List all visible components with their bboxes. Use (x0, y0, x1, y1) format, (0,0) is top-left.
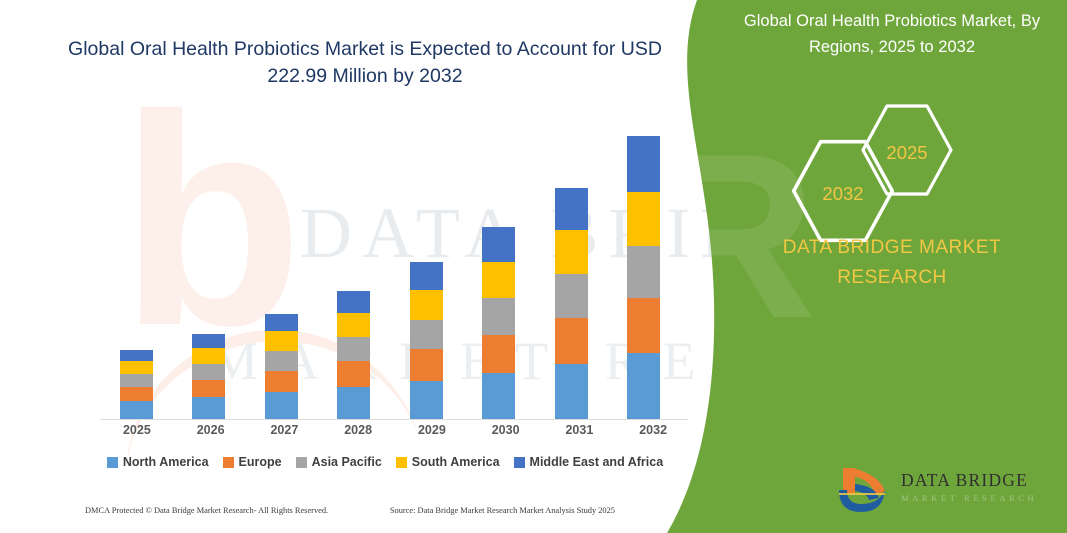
x-axis-labels: 20252026202720282029203020312032 (100, 423, 690, 437)
stacked-bar (627, 136, 660, 419)
bar-segment (265, 314, 298, 332)
bar-segment (410, 381, 443, 419)
stacked-bar (265, 314, 298, 419)
hexagon-group: 2025 2032 (777, 100, 987, 220)
bar-segment (337, 361, 370, 387)
bar-segment (192, 334, 225, 348)
legend-item[interactable]: Asia Pacific (296, 455, 382, 469)
bar-segment (482, 373, 515, 419)
bar-segment (482, 262, 515, 299)
logo-title: DATA BRIDGE (901, 470, 1037, 491)
legend-swatch (296, 457, 307, 468)
stacked-bar-chart (80, 120, 690, 420)
bar-segment (410, 349, 443, 381)
bar-segment (627, 136, 660, 192)
stacked-bar (410, 262, 443, 419)
bar-segment (192, 348, 225, 364)
bar-segment (192, 364, 225, 380)
page-title: Global Oral Health Probiotics Market is … (60, 36, 670, 90)
legend-swatch (514, 457, 525, 468)
bar-segment (627, 298, 660, 353)
stacked-bar (337, 291, 370, 419)
x-axis-label: 2032 (619, 423, 687, 437)
panel-title: Global Oral Health Probiotics Market, By… (727, 8, 1057, 60)
x-axis-label: 2030 (472, 423, 540, 437)
panel-brand-name: DATA BRIDGE MARKET RESEARCH (727, 233, 1057, 293)
bar-segment (120, 401, 153, 419)
chart-bars (100, 120, 680, 419)
bar-segment (482, 227, 515, 261)
logo-subtitle: MARKET RESEARCH (901, 493, 1037, 503)
legend-label: South America (412, 455, 500, 469)
bar-segment (555, 274, 588, 318)
bar-column (102, 350, 170, 419)
bar-segment (192, 380, 225, 398)
x-axis-label: 2029 (398, 423, 466, 437)
legend-item[interactable]: Middle East and Africa (514, 455, 664, 469)
bar-segment (265, 331, 298, 351)
data-bridge-logo-icon (835, 464, 893, 516)
legend-swatch (107, 457, 118, 468)
bar-segment (627, 192, 660, 246)
bar-segment (410, 320, 443, 349)
legend-item[interactable]: Europe (223, 455, 282, 469)
bar-segment (120, 361, 153, 374)
bar-segment (120, 350, 153, 361)
company-logo: DATA BRIDGE MARKET RESEARCH (835, 462, 1050, 520)
logo-text-block: DATA BRIDGE MARKET RESEARCH (901, 470, 1037, 503)
footer-copyright: DMCA Protected © Data Bridge Market Rese… (85, 506, 328, 515)
x-axis-label: 2028 (324, 423, 392, 437)
bar-segment (337, 387, 370, 419)
bar-column (610, 136, 678, 419)
stacked-bar (555, 188, 588, 419)
stacked-bar (192, 334, 225, 419)
bar-segment (410, 262, 443, 290)
chart-plot-area (100, 120, 680, 420)
bar-segment (337, 291, 370, 313)
footer: DMCA Protected © Data Bridge Market Rese… (0, 506, 700, 515)
x-axis-label: 2026 (177, 423, 245, 437)
bar-column (175, 334, 243, 419)
infographic-root: b DATA BRIDGE MARKET RESEARCH Global Ora… (0, 0, 1067, 533)
bar-column (537, 188, 605, 419)
bar-segment (555, 230, 588, 274)
bar-segment (555, 318, 588, 364)
right-green-panel: R Global Oral Health Probiotics Market, … (667, 0, 1067, 533)
x-axis-label: 2027 (250, 423, 318, 437)
bar-segment (192, 397, 225, 419)
x-axis-line (100, 419, 688, 420)
chart-legend: North AmericaEuropeAsia PacificSouth Ame… (80, 455, 690, 469)
stacked-bar (120, 350, 153, 419)
bar-segment (555, 188, 588, 230)
bar-segment (337, 313, 370, 337)
x-axis-label: 2031 (545, 423, 613, 437)
legend-label: Middle East and Africa (530, 455, 664, 469)
bar-column (320, 291, 388, 419)
legend-label: North America (123, 455, 209, 469)
bar-segment (120, 374, 153, 387)
bar-segment (120, 387, 153, 402)
bar-segment (482, 298, 515, 334)
x-axis-label: 2025 (103, 423, 171, 437)
legend-label: Europe (239, 455, 282, 469)
stacked-bar (482, 227, 515, 419)
bar-segment (555, 364, 588, 419)
legend-label: Asia Pacific (312, 455, 382, 469)
legend-swatch (396, 457, 407, 468)
bar-segment (265, 392, 298, 419)
bar-segment (627, 246, 660, 299)
bar-segment (410, 290, 443, 320)
bar-column (392, 262, 460, 419)
bar-segment (265, 351, 298, 371)
bar-segment (265, 371, 298, 393)
legend-item[interactable]: South America (396, 455, 500, 469)
bar-segment (482, 335, 515, 373)
footer-source: Source: Data Bridge Market Research Mark… (390, 506, 615, 515)
legend-item[interactable]: North America (107, 455, 209, 469)
bar-segment (337, 337, 370, 361)
bar-column (247, 314, 315, 419)
bar-column (465, 227, 533, 419)
legend-swatch (223, 457, 234, 468)
bar-segment (627, 353, 660, 419)
